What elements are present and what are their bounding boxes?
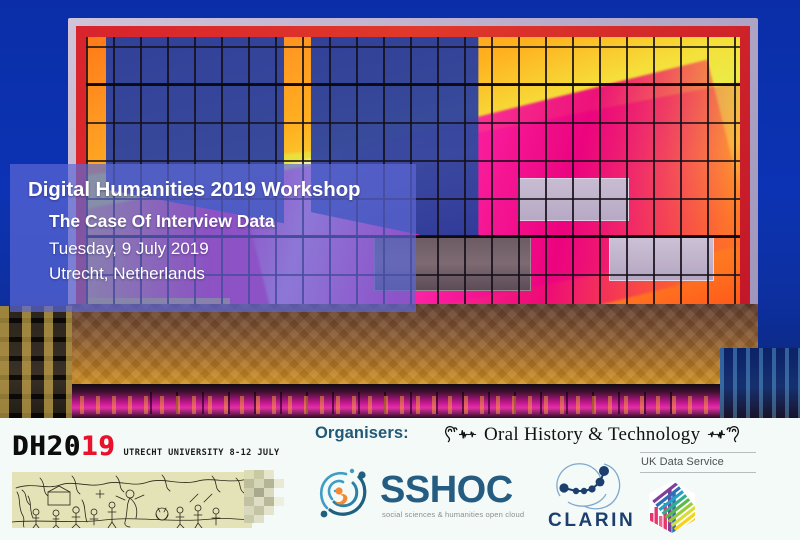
- dh2019-word-red: 19: [81, 432, 116, 462]
- ukds-rule-bottom: [640, 472, 756, 473]
- workshop-date: Tuesday, 9 July 2019: [49, 237, 398, 260]
- engraving-pixelation-artifact: [244, 470, 308, 526]
- workshop-location: Utrecht, Netherlands: [49, 262, 398, 285]
- waveform-ear-icon: [707, 425, 741, 445]
- neighbouring-building-left: [0, 306, 72, 418]
- oral-history-technology-logo[interactable]: Oral History & Technology: [443, 424, 741, 446]
- bronze-diamond-overhang: [68, 304, 758, 390]
- ear-waveform-icon: [443, 425, 477, 445]
- clarin-wordmark: CLARIN: [548, 510, 635, 532]
- sshoc-logo[interactable]: SSHOC social sciences & humanities open …: [312, 464, 524, 526]
- dh2019-word-dark: DH20: [12, 432, 81, 462]
- clarin-logo[interactable]: CLARIN: [546, 458, 650, 530]
- dh2019-subtitle: UTRECHT UNIVERSITY 8-12 JULY: [124, 448, 280, 462]
- sshoc-wordmark-group: SSHOC social sciences & humanities open …: [380, 471, 524, 519]
- dh2019-engraving-image: [12, 472, 252, 528]
- title-overlay-box: Digital Humanities 2019 Workshop The Cas…: [10, 164, 416, 312]
- dh2019-wordmark: DH2019: [12, 432, 116, 462]
- uk-data-service-logo[interactable]: UK Data Service: [640, 452, 790, 540]
- workshop-subtitle: The Case Of Interview Data: [49, 209, 398, 233]
- ground-floor-lights: [0, 396, 800, 414]
- dh2019-wordmark-row: DH2019 UTRECHT UNIVERSITY 8-12 JULY: [12, 426, 308, 462]
- poster-canvas: Digital Humanities 2019 Workshop The Cas…: [0, 0, 800, 540]
- hero-photo: Digital Humanities 2019 Workshop The Cas…: [0, 0, 800, 418]
- sshoc-wordmark: SSHOC: [380, 471, 524, 509]
- oral-history-technology-text: Oral History & Technology: [484, 424, 700, 446]
- uk-data-service-text: UK Data Service: [640, 453, 790, 472]
- skyline-right: [720, 348, 800, 418]
- engraving-artwork: [12, 472, 252, 528]
- workshop-title: Digital Humanities 2019 Workshop: [28, 177, 398, 203]
- organisers-label: Organisers:: [315, 424, 409, 443]
- sshoc-tagline: social sciences & humanities open cloud: [382, 510, 524, 519]
- ukds-hexagon-icon: [644, 479, 790, 540]
- dh2019-logo-block[interactable]: DH2019 UTRECHT UNIVERSITY 8-12 JULY: [12, 426, 308, 534]
- sshoc-swirl-icon: [312, 464, 374, 526]
